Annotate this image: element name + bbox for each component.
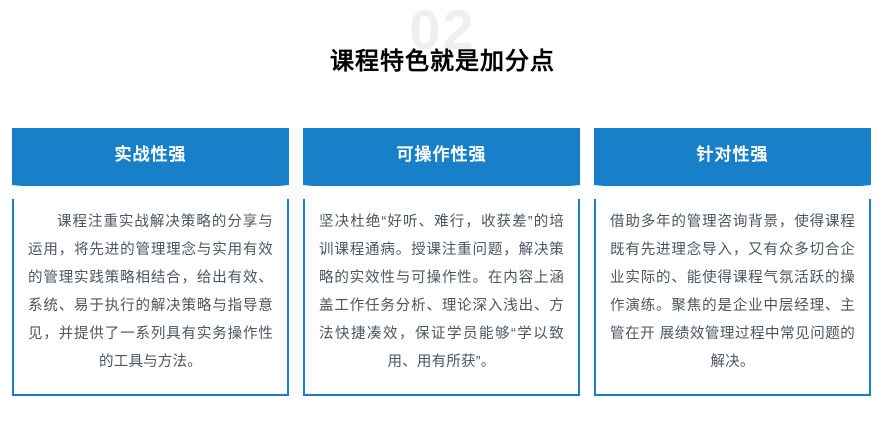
feature-card-body: 借助多年的管理咨询背景，使得课程既有先进理念导入，又有众多切合企业实际的、能使得… — [596, 186, 869, 394]
feature-card-header: 可操作性强 — [303, 128, 580, 186]
feature-card-text: 课程注重实战解决策略的分享与运用，将先进的管理理念与实用有效的管理实践策略相结合… — [28, 208, 273, 376]
feature-card-body: 课程注重实战解决策略的分享与运用，将先进的管理理念与实用有效的管理实践策略相结合… — [14, 186, 287, 394]
feature-cards-row: 实战性强 课程注重实战解决策略的分享与运用，将先进的管理理念与实用有效的管理实践… — [12, 128, 873, 396]
feature-card-header: 实战性强 — [12, 128, 289, 186]
feature-card-title: 针对性强 — [697, 146, 769, 163]
page-title: 课程特色就是加分点 — [0, 48, 885, 77]
page-header: 02 课程特色就是加分点 — [0, 0, 885, 112]
feature-card-body: 坚决杜绝“好听、难行，收获差”的培训课程通病。授课注重问题，解决策略的实效性与可… — [305, 186, 578, 394]
feature-card: 可操作性强 坚决杜绝“好听、难行，收获差”的培训课程通病。授课注重问题，解决策略… — [303, 128, 580, 396]
feature-card-text: 借助多年的管理咨询背景，使得课程既有先进理念导入，又有众多切合企业实际的、能使得… — [610, 208, 855, 376]
feature-card-header: 针对性强 — [594, 128, 871, 186]
feature-card-text: 坚决杜绝“好听、难行，收获差”的培训课程通病。授课注重问题，解决策略的实效性与可… — [319, 208, 564, 376]
feature-card: 实战性强 课程注重实战解决策略的分享与运用，将先进的管理理念与实用有效的管理实践… — [12, 128, 289, 396]
feature-card-title: 可操作性强 — [397, 146, 487, 163]
feature-card: 针对性强 借助多年的管理咨询背景，使得课程既有先进理念导入，又有众多切合企业实际… — [594, 128, 871, 396]
feature-card-title: 实战性强 — [115, 146, 187, 163]
